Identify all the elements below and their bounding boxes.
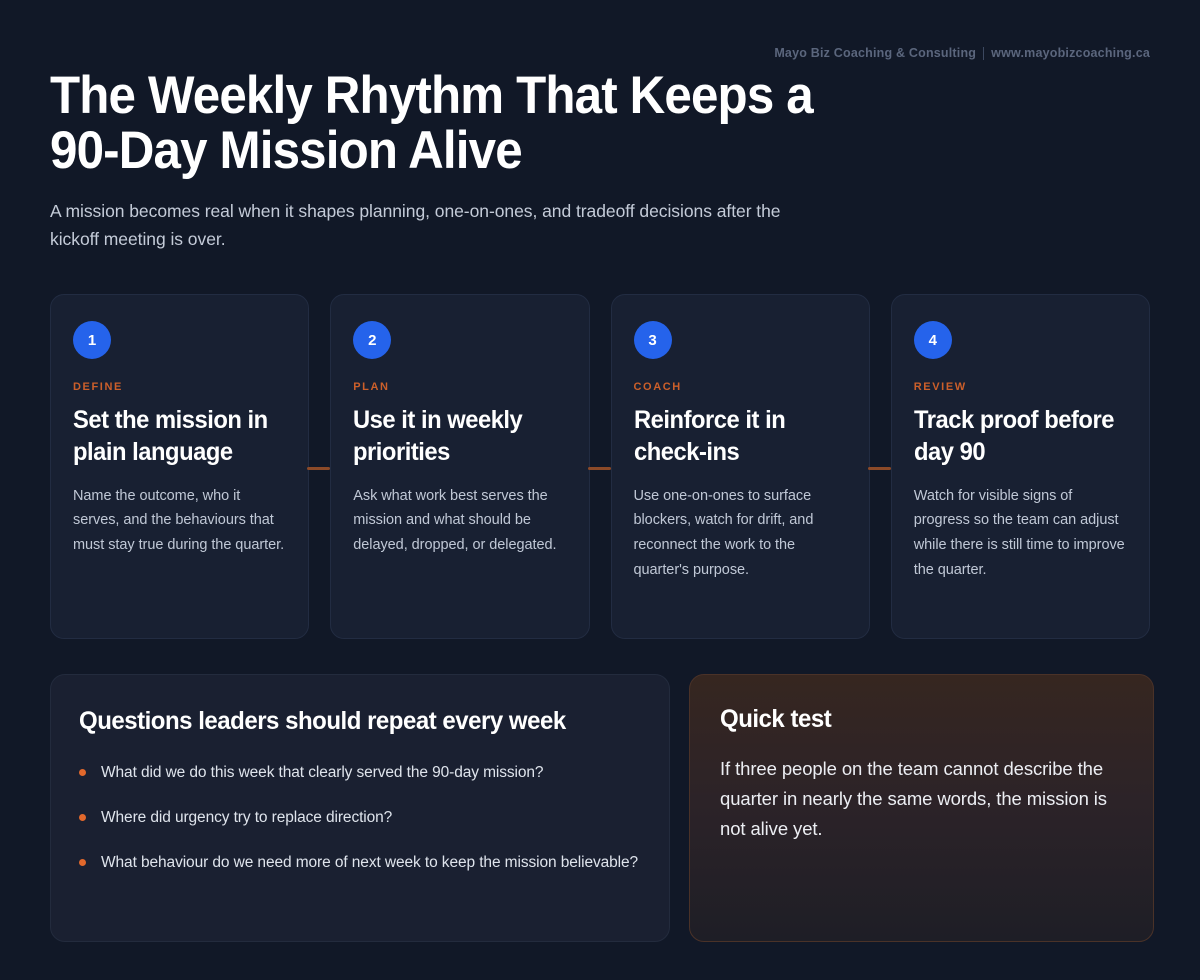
quick-test-panel: Quick test If three people on the team c… [689,674,1154,942]
bullet-dot-icon [79,814,86,821]
page-title: The Weekly Rhythm That Keeps a 90-Day Mi… [50,68,831,178]
step-eyebrow: PLAN [353,381,566,393]
brand-website: www.mayobizcoaching.ca [991,46,1150,60]
list-item: What behaviour do we need more of next w… [79,850,641,875]
step-eyebrow: REVIEW [914,381,1127,393]
step-eyebrow: DEFINE [73,381,286,393]
questions-panel-title: Questions leaders should repeat every we… [79,705,619,738]
step-title: Use it in weekly priorities [353,405,556,469]
brand-company: Mayo Biz Coaching & Consulting [774,46,976,60]
step-body: Watch for visible signs of progress so t… [914,484,1127,584]
brand-attribution: Mayo Biz Coaching & Consulting www.mayob… [774,46,1150,60]
step-number-badge: 3 [634,321,672,359]
step-eyebrow: COACH [634,381,847,393]
step-body: Name the outcome, who it serves, and the… [73,484,286,559]
list-item-text: What behaviour do we need more of next w… [101,854,638,871]
quick-test-title: Quick test [720,705,1107,734]
list-item: What did we do this week that clearly se… [79,760,641,785]
quick-test-body: If three people on the team cannot descr… [720,754,1123,844]
bullet-dot-icon [79,859,86,866]
step-card-2: 2 PLAN Use it in weekly priorities Ask w… [330,294,589,639]
step-number-badge: 1 [73,321,111,359]
step-title: Track proof before day 90 [914,405,1117,469]
step-number-badge: 4 [914,321,952,359]
infographic-page: Mayo Biz Coaching & Consulting www.mayob… [0,0,1200,980]
step-title: Set the mission in plain language [73,405,276,469]
step-body: Ask what work best serves the mission an… [353,484,566,559]
steps-row: 1 DEFINE Set the mission in plain langua… [50,294,1150,639]
list-item: Where did urgency try to replace directi… [79,805,641,830]
step-card-3: 3 COACH Reinforce it in check-ins Use on… [611,294,870,639]
brand-divider [983,47,984,60]
questions-list: What did we do this week that clearly se… [79,760,641,875]
list-item-text: What did we do this week that clearly se… [101,764,543,781]
step-card-4: 4 REVIEW Track proof before day 90 Watch… [891,294,1150,639]
questions-panel: Questions leaders should repeat every we… [50,674,670,942]
step-connector-icon [868,467,891,470]
bullet-dot-icon [79,769,86,776]
step-connector-icon [588,467,611,470]
step-number-badge: 2 [353,321,391,359]
step-title: Reinforce it in check-ins [634,405,837,469]
bottom-panels: Questions leaders should repeat every we… [50,674,1154,942]
step-card-1: 1 DEFINE Set the mission in plain langua… [50,294,309,639]
step-connector-icon [307,467,330,470]
page-subtitle: A mission becomes real when it shapes pl… [50,198,810,253]
list-item-text: Where did urgency try to replace directi… [101,809,392,826]
step-body: Use one-on-ones to surface blockers, wat… [634,484,847,584]
